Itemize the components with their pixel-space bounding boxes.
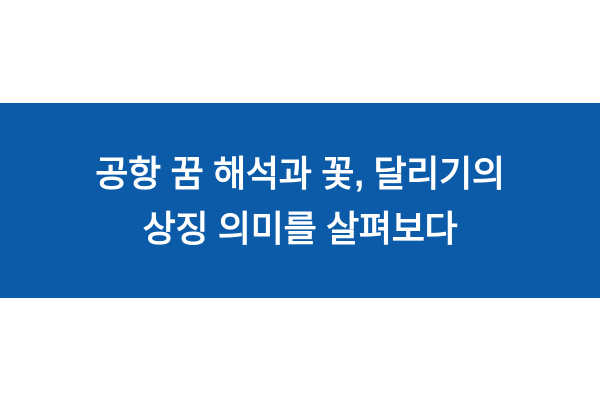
page-title-line-1: 공항 꿈 해석과 꽃, 달리기의 xyxy=(95,146,505,201)
page-title-line-2: 상징 의미를 살펴보다 xyxy=(95,201,505,256)
page-title: 공항 꿈 해석과 꽃, 달리기의 상징 의미를 살펴보다 xyxy=(95,146,505,256)
banner-card: 공항 꿈 해석과 꽃, 달리기의 상징 의미를 살펴보다 xyxy=(0,0,600,400)
bottom-whitespace xyxy=(0,298,600,400)
top-whitespace xyxy=(0,0,600,103)
hero-banner: 공항 꿈 해석과 꽃, 달리기의 상징 의미를 살펴보다 xyxy=(0,103,600,298)
